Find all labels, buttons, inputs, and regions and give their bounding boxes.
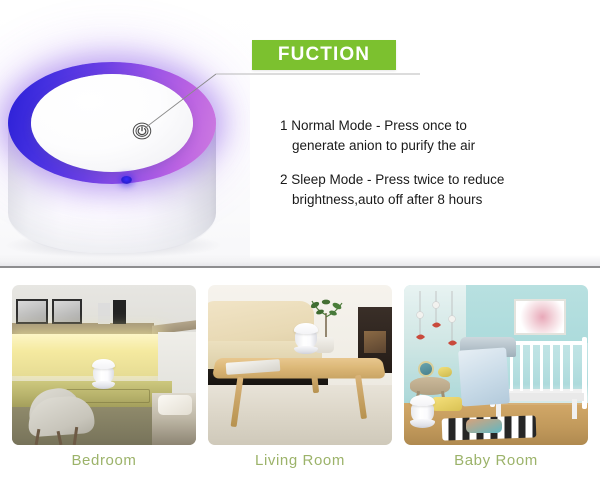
fuction-banner-label: FUCTION — [278, 44, 370, 66]
divider-gradient-band — [0, 255, 600, 266]
purifier-in-baby-room — [410, 395, 435, 428]
room-label-baby-room: Baby Room — [404, 452, 588, 469]
baby-room-photo — [404, 285, 588, 445]
shelf-object — [98, 303, 110, 324]
product-photo — [0, 0, 250, 266]
rug-toys — [466, 419, 502, 433]
living-room-photo — [208, 285, 392, 445]
function-2-line-1: 2 Sleep Mode - Press twice to reduce — [280, 170, 580, 190]
function-2-line-2: brightness,auto off after 8 hours — [280, 190, 580, 210]
shelf-object — [113, 300, 126, 324]
room-showcase: Bedroom — [0, 268, 600, 498]
room-label-bedroom: Bedroom — [12, 452, 196, 469]
room-label-living-room: Living Room — [208, 452, 392, 469]
picture-frame — [52, 299, 82, 324]
room-card-living-room: Living Room — [208, 285, 392, 469]
function-section: FUCTION 1 Normal Mode - Press once to ge… — [0, 0, 600, 266]
toy — [438, 367, 452, 377]
room-card-baby-room: Baby Room — [404, 285, 588, 469]
purifier-in-living-room — [294, 323, 318, 354]
crib-blanket — [458, 347, 510, 406]
product-feature-page: FUCTION 1 Normal Mode - Press once to ge… — [0, 0, 600, 498]
alarm-clock — [418, 361, 434, 377]
room-card-bedroom: Bedroom — [12, 285, 196, 469]
led-indicator — [121, 176, 132, 184]
bedroom-photo — [12, 285, 196, 445]
purifier-top-plate — [31, 74, 193, 172]
function-item-sleep-mode: 2 Sleep Mode - Press twice to reduce bri… — [280, 170, 580, 210]
bedroom-pillow — [158, 395, 192, 415]
wall-art-frame — [514, 299, 566, 335]
function-1-line-2: generate anion to purify the air — [280, 136, 580, 156]
function-1-line-1: 1 Normal Mode - Press once to — [280, 116, 580, 136]
bedroom-shelf — [12, 323, 154, 334]
function-description-list: 1 Normal Mode - Press once to generate a… — [280, 116, 580, 224]
yellow-cushion — [432, 397, 462, 411]
cabinet-contents — [364, 331, 386, 353]
purifier-in-bedroom — [92, 359, 115, 389]
fuction-banner: FUCTION — [252, 40, 396, 70]
function-item-normal-mode: 1 Normal Mode - Press once to generate a… — [280, 116, 580, 156]
power-icon[interactable] — [127, 118, 157, 143]
picture-frame — [16, 299, 48, 324]
bedroom-light-strip — [12, 334, 158, 376]
